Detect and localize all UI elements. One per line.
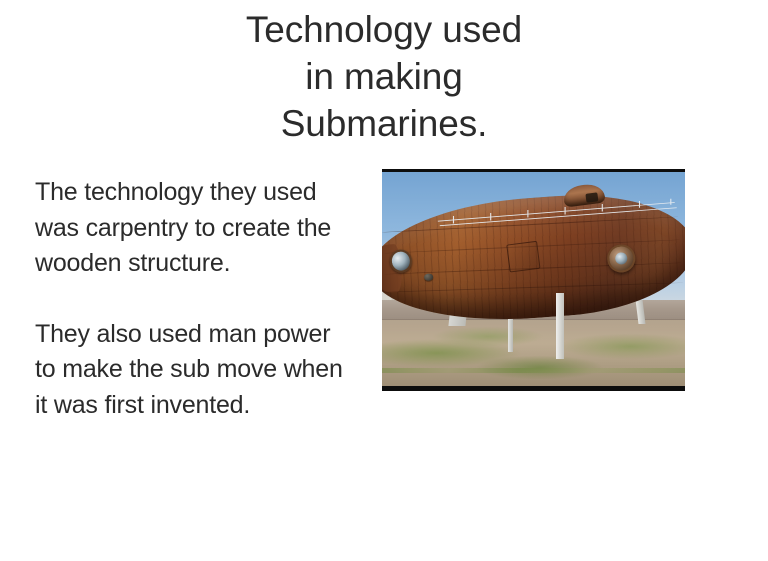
title-line-1: Technology used [0,6,768,53]
body-paragraph-2: They also used man power to make the sub… [35,317,345,424]
page-title: Technology used in making Submarines. [0,6,768,147]
title-line-3: Submarines. [0,100,768,147]
body-text-column: The technology they used was carpentry t… [35,175,345,423]
body-paragraph-1: The technology they used was carpentry t… [35,175,345,282]
submarine-photo [382,172,685,386]
title-line-2: in making [0,53,768,100]
submarine-photo-frame [382,169,685,391]
photo-tone-overlay [382,172,685,386]
slide: Technology used in making Submarines. Th… [0,0,768,561]
